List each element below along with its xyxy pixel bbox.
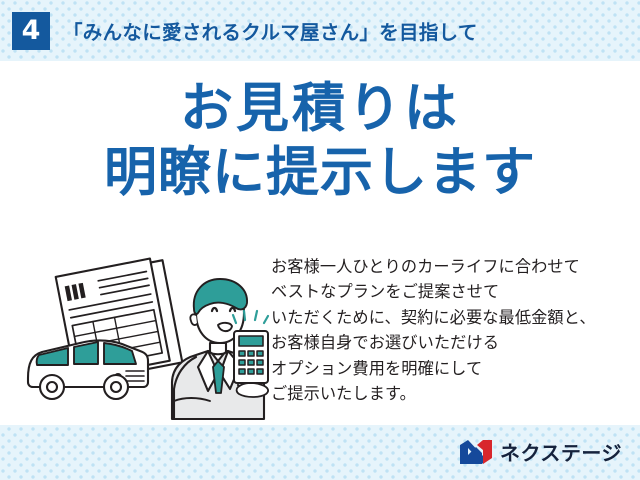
promo-banner: 4 「みんなに愛されるクルマ屋さん」を目指して お見積りは 明瞭に提示します お… (0, 0, 640, 480)
headline-line-2: 明瞭に提示します (0, 144, 640, 201)
body-line-2: ベストなプランをご提案させて (271, 279, 631, 304)
body-line-5: オプション費用を明確にして (271, 356, 631, 381)
calculator-icon (234, 331, 268, 383)
brand-logo-text: ネクステージ (500, 437, 622, 466)
body-copy: お客様一人ひとりのカーライフに合わせて ベストなプランをご提案させて いただくた… (271, 254, 631, 406)
body-line-3: いただくために、契約に必要な最低金額と、 (271, 305, 631, 330)
content-panel: お見積りは 明瞭に提示します お客様一人ひとりのカーライフに合わせて ベストなプ… (0, 61, 640, 425)
body-line-1: お客様一人ひとりのカーライフに合わせて (271, 254, 631, 279)
footer-band: ネクステージ (0, 425, 640, 480)
van-icon (28, 340, 148, 399)
brand-logo: ネクステージ (459, 437, 622, 466)
headline-line-1: お見積りは (0, 80, 640, 137)
body-line-6: ご提示いたします。 (271, 381, 631, 406)
body-line-4: お客様自身でお選びいただける (271, 330, 631, 355)
header-band: 4 「みんなに愛されるクルマ屋さん」を目指して (0, 0, 640, 61)
salesman-quotation-van-illustration (22, 251, 274, 421)
headline: お見積りは 明瞭に提示します (0, 80, 640, 201)
section-number-badge: 4 (12, 12, 50, 50)
nextage-n-mark-icon (459, 439, 493, 465)
header-title: 「みんなに愛されるクルマ屋さん」を目指して (63, 16, 478, 45)
